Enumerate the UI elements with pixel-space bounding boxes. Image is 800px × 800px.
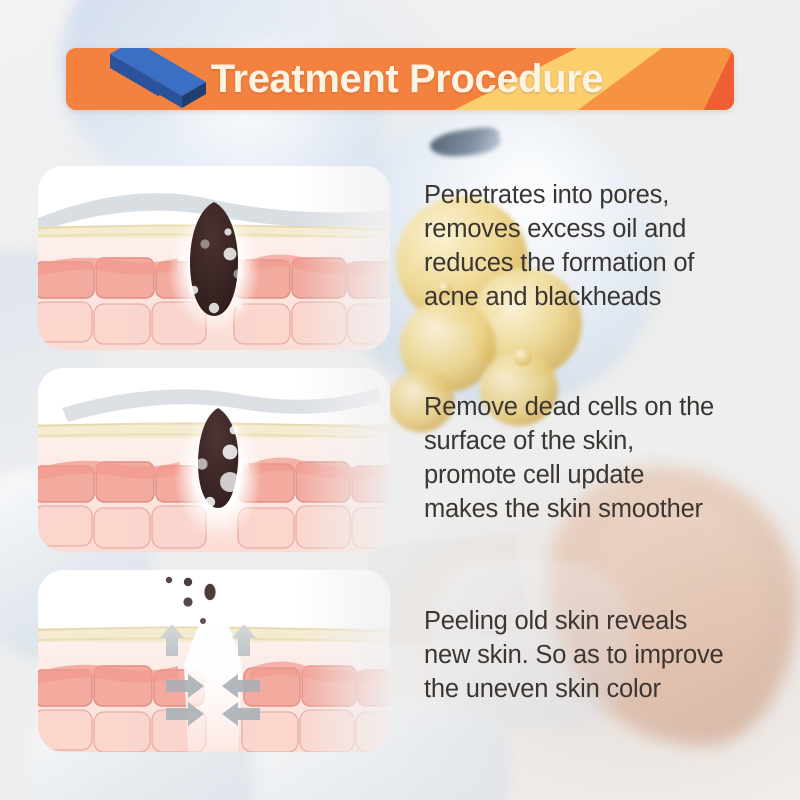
title-banner: Treatment Procedure [66, 48, 734, 110]
background-device-nozzle [429, 125, 502, 160]
step-description-1: Penetrates into pores, removes excess oi… [424, 178, 790, 314]
skin-cross-section-loosened-pore [38, 368, 390, 552]
illustration-panel-loosened-pore [38, 368, 390, 552]
serum-droplet [514, 348, 532, 366]
skin-cross-section-clogged-pore [38, 166, 390, 350]
poster-root: Treatment Procedure [0, 0, 800, 800]
page-title: Treatment Procedure [66, 48, 734, 110]
step-description-3: Peeling old skin reveals new skin. So as… [424, 604, 796, 706]
step-description-2: Remove dead cells on the surface of the … [424, 390, 790, 526]
illustration-panel-cleared-pore [38, 570, 390, 752]
skin-cross-section-cleared-pore [38, 570, 390, 752]
illustration-panel-clogged-pore [38, 166, 390, 350]
